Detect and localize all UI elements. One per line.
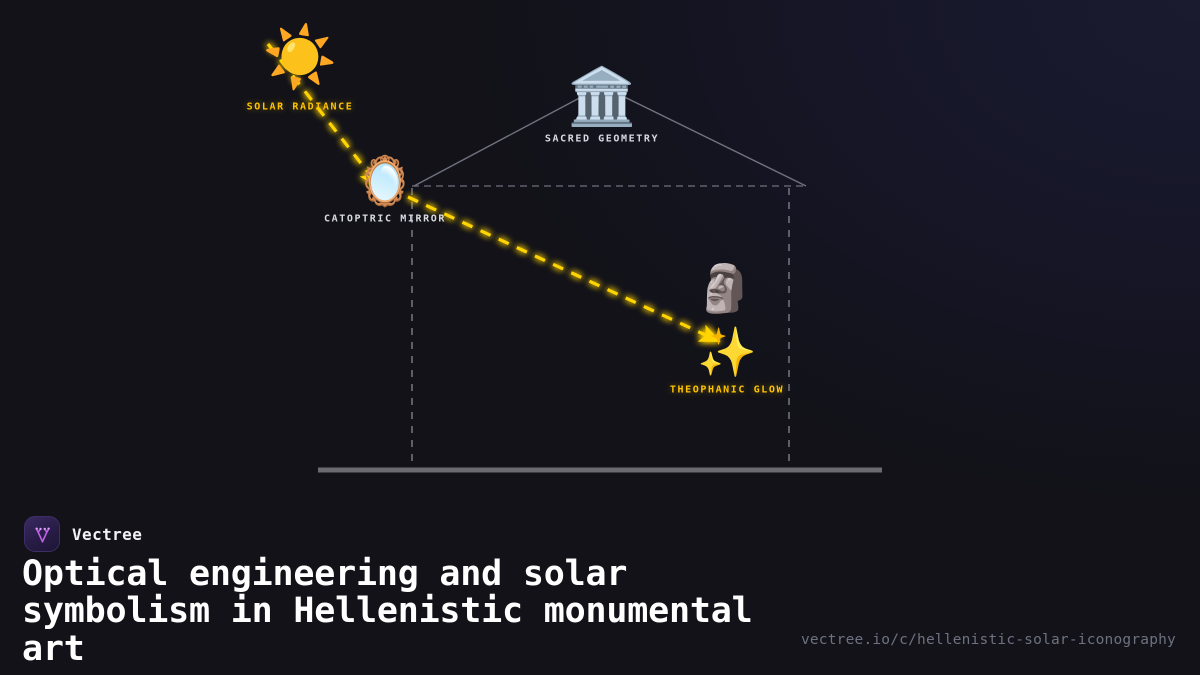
node-sacred-geometry: 🏛️ SACRED GEOMETRY: [545, 70, 659, 145]
brand-name: Vectree: [72, 525, 142, 544]
node-moai-statue: 🗿: [696, 265, 753, 311]
node-label-solar-radiance: SOLAR RADIANCE: [247, 102, 354, 113]
poster-canvas: ☀️ SOLAR RADIANCE 🪞 CATOPTRIC MIRROR 🏛️ …: [0, 0, 1200, 675]
optical-diagram: ☀️ SOLAR RADIANCE 🪞 CATOPTRIC MIRROR 🏛️ …: [0, 0, 1200, 500]
vectree-tree-mark-icon: [24, 516, 60, 552]
node-solar-radiance: ☀️ SOLAR RADIANCE: [247, 28, 354, 113]
node-catoptric-mirror: 🪞 CATOPTRIC MIRROR: [324, 158, 446, 225]
reflected-beam: [408, 197, 712, 338]
node-label-catoptric-mirror: CATOPTRIC MIRROR: [324, 214, 446, 225]
node-label-theophanic-glow: THEOPHANIC GLOW: [670, 385, 784, 396]
footer: Vectree Optical engineering and solar sy…: [0, 500, 1200, 675]
moai-icon: 🗿: [696, 265, 753, 311]
node-theophanic-glow: ✨ THEOPHANIC GLOW: [670, 329, 784, 396]
sun-icon: ☀️: [263, 28, 338, 88]
node-label-sacred-geometry: SACRED GEOMETRY: [545, 134, 659, 145]
sparkles-icon: ✨: [697, 329, 757, 377]
page-title: Optical engineering and solar symbolism …: [22, 556, 822, 668]
brand-block: Vectree: [24, 516, 142, 552]
brand-glyph: [33, 525, 52, 544]
source-url: vectree.io/c/hellenistic-solar-iconograp…: [801, 632, 1176, 648]
classical-building-icon: 🏛️: [567, 70, 637, 126]
mirror-icon: 🪞: [355, 158, 415, 206]
